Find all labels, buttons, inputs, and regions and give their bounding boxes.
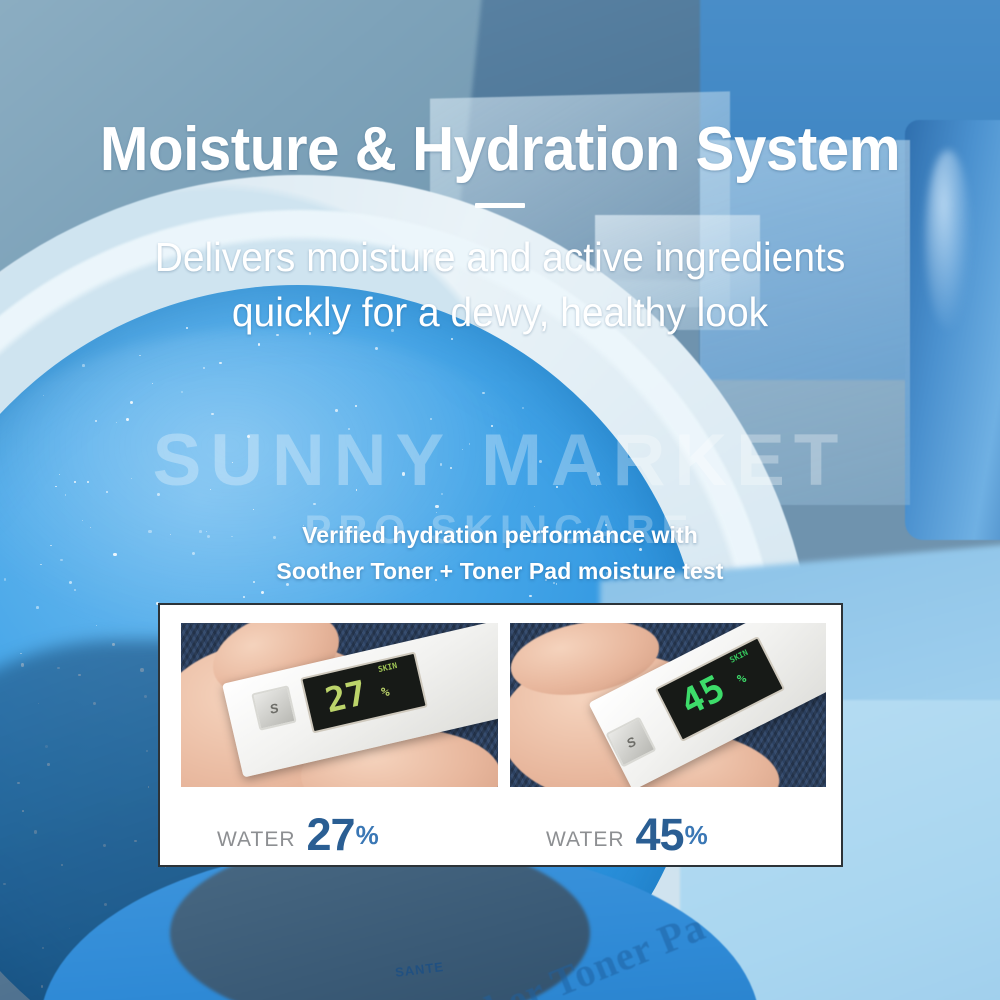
readout-value: 45 (636, 814, 684, 855)
moisture-test-photo-after: Moisture Checker S 45 % SKIN (510, 623, 827, 787)
gel-sparkle (482, 392, 484, 394)
gel-sparkle (529, 595, 532, 598)
gel-sparkle (313, 503, 315, 505)
gel-sparkle (247, 435, 250, 438)
lcd-percent: % (380, 684, 391, 700)
gel-sparkle (375, 347, 378, 350)
gel-sparkle (232, 462, 233, 463)
gel-sparkle (258, 343, 261, 346)
evidence-caption: Verified hydration performance with Soot… (0, 518, 1000, 589)
title-divider (475, 203, 525, 208)
gel-sparkle (82, 364, 85, 367)
readout-before: WATER 27 % (181, 803, 498, 855)
headline-block: Moisture & Hydration System Delivers moi… (0, 118, 1000, 340)
readout-unit: % (356, 820, 379, 851)
lcd-value: 27 (322, 676, 370, 718)
gel-sparkle (440, 463, 443, 466)
subtitle-line-2: quickly for a dewy, healthy look (25, 285, 975, 340)
subtitle-line-1: Delivers moisture and active ingredients (25, 230, 975, 285)
gel-sparkle (243, 596, 245, 598)
gel-sparkle (130, 401, 133, 404)
readout-label: WATER (546, 828, 625, 852)
lcd-mode-tag: SKIN (377, 661, 398, 674)
lcd-value: 45 (675, 671, 730, 723)
gel-sparkle (435, 505, 438, 508)
gel-sparkle (335, 409, 338, 412)
gel-sparkle (74, 589, 75, 590)
gel-sparkle (211, 413, 214, 416)
marketing-banner: ther Toner Pa SANTE SUNNY MARKET PRO SKI… (0, 0, 1000, 1000)
readout-label: WATER (217, 828, 296, 852)
device-label: Moisture Checker (478, 623, 497, 635)
readout-after: WATER 45 % (498, 803, 815, 855)
evidence-readout-row: WATER 27 % WATER 45 % (181, 803, 826, 855)
gel-sparkle (261, 591, 264, 594)
gel-sparkle (116, 422, 117, 423)
gel-sparkle (219, 362, 221, 364)
evidence-caption-line-1: Verified hydration performance with (0, 518, 1000, 554)
gel-sparkle (74, 481, 76, 483)
evidence-caption-line-2: Soother Toner + Toner Pad moisture test (0, 554, 1000, 590)
lcd-percent: % (735, 671, 749, 688)
gel-sparkle (596, 485, 598, 487)
gel-sparkle (157, 493, 160, 496)
readout-unit: % (685, 820, 708, 851)
readout-value: 27 (307, 814, 355, 855)
page-subtitle: Delivers moisture and active ingredients… (25, 230, 975, 340)
gel-sparkle (126, 418, 129, 421)
gel-sparkle (36, 606, 39, 609)
gel-sparkle (95, 420, 97, 422)
gel-sparkle (355, 405, 357, 407)
page-title: Moisture & Hydration System (30, 118, 970, 181)
gel-sparkle (356, 489, 358, 491)
gel-sparkle (430, 418, 432, 420)
lcd-mode-tag: SKIN (728, 648, 749, 665)
gel-sparkle (59, 474, 60, 475)
gel-sparkle (491, 425, 493, 427)
evidence-panel: Moisture Checker S 27 % SKIN Moisture Ch… (158, 603, 843, 867)
gel-sparkle (597, 472, 600, 475)
evidence-photo-row: Moisture Checker S 27 % SKIN Moisture Ch… (181, 623, 826, 787)
moisture-test-photo-before: Moisture Checker S 27 % SKIN (181, 623, 498, 787)
